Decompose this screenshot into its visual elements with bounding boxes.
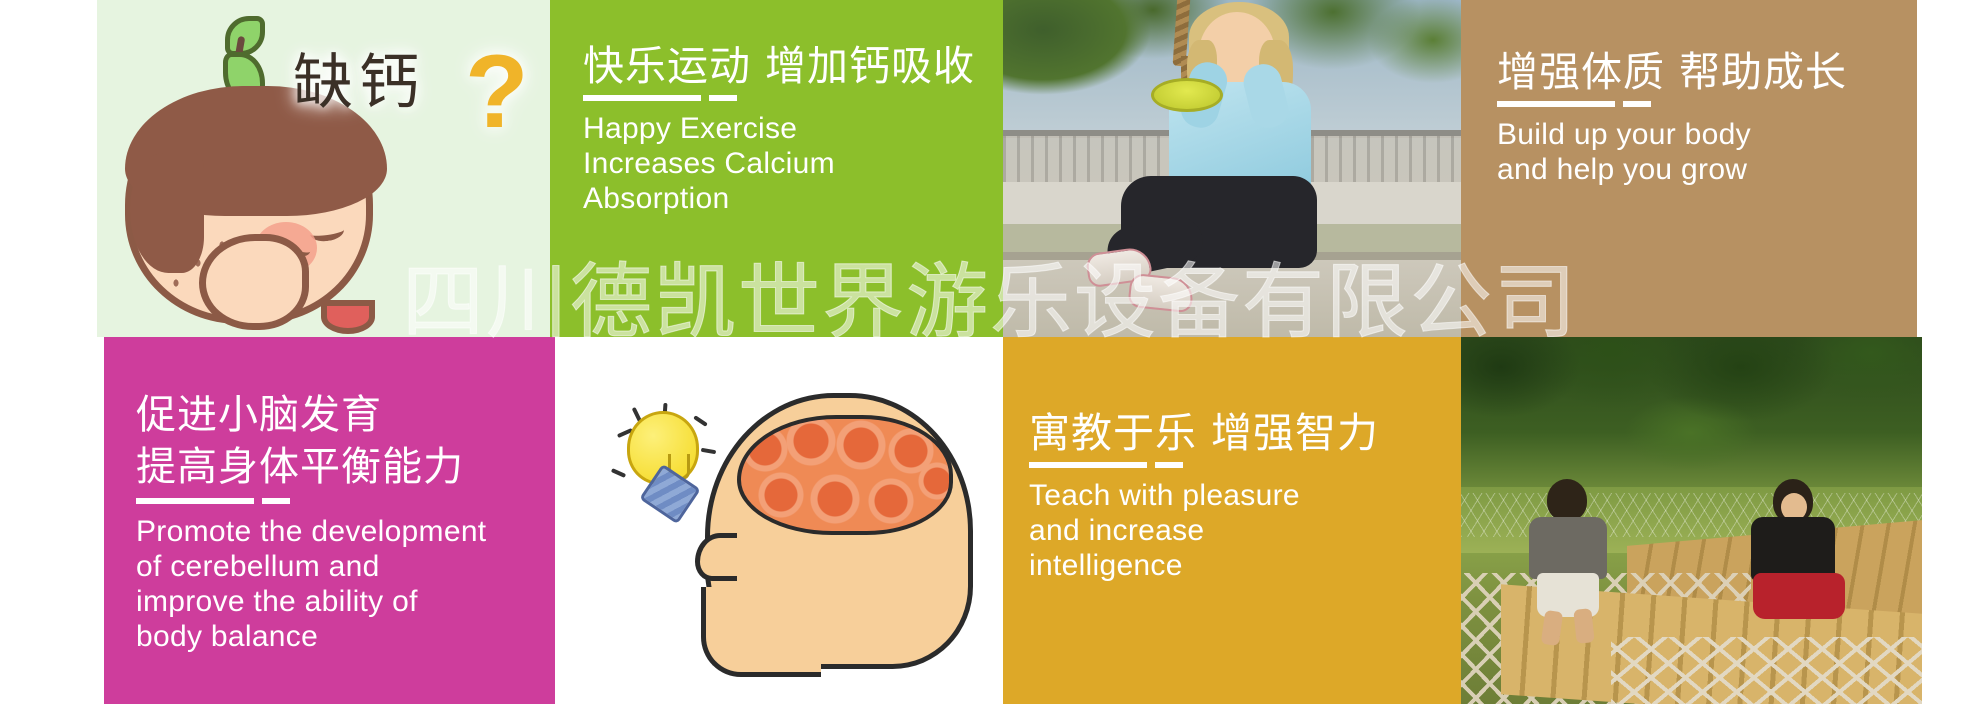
green-english-line-3: Absorption bbox=[583, 181, 975, 216]
nose-icon bbox=[695, 533, 737, 581]
gold-english-line-2: and increase bbox=[1029, 513, 1379, 548]
green-english-text: Happy Exercise Increases Calcium Absorpt… bbox=[583, 111, 975, 216]
green-headline-cn: 快乐运动 增加钙吸收 bbox=[583, 42, 975, 90]
panel-cerebellum: 促进小脑发育 提高身体平衡能力 Promote the development … bbox=[104, 337, 555, 704]
boy-head bbox=[1547, 479, 1587, 521]
rope-net-lower bbox=[1611, 637, 1922, 704]
gold-english-line-1: Teach with pleasure bbox=[1029, 478, 1379, 513]
boy-figure bbox=[1519, 479, 1615, 639]
panel-teach-with-pleasure: 寓教于乐 增强智力 Teach with pleasure and increa… bbox=[1003, 337, 1461, 704]
question-mark-icon: ? bbox=[465, 40, 529, 144]
panel-photo-rope-bridge bbox=[1461, 337, 1922, 704]
magenta-underline-rule bbox=[136, 498, 254, 504]
magenta-english-line-4: body balance bbox=[136, 619, 486, 654]
green-underline-rule bbox=[583, 95, 701, 101]
baby-mouth-icon bbox=[321, 300, 375, 334]
tan-english-line-2: and help you grow bbox=[1497, 152, 1847, 187]
magenta-english-line-1: Promote the development bbox=[136, 514, 486, 549]
bulb-ray-icon bbox=[693, 415, 708, 427]
promo-banner: 缺钙 ? 快乐运动 增加钙吸收 Happy Exercise Increases… bbox=[0, 0, 1980, 704]
tan-english-text: Build up your body and help you grow bbox=[1497, 117, 1847, 187]
panel-photo-swing bbox=[1003, 0, 1461, 337]
boy-leg-right bbox=[1573, 608, 1594, 644]
woman-figure bbox=[1729, 479, 1859, 629]
pavement-lower bbox=[1003, 260, 1461, 337]
green-english-line-1: Happy Exercise bbox=[583, 111, 975, 146]
tan-text-block: 增强体质 帮助成长 Build up your body and help yo… bbox=[1497, 48, 1847, 187]
baby-caption: 缺钙 ? bbox=[293, 48, 523, 156]
gold-headline-cn: 寓教于乐 增强智力 bbox=[1029, 409, 1379, 457]
magenta-english-text: Promote the development of cerebellum an… bbox=[136, 514, 486, 654]
tan-underline-rule bbox=[1497, 101, 1615, 107]
panel-brain-illustration bbox=[555, 337, 1003, 704]
gold-english-line-3: intelligence bbox=[1029, 548, 1379, 583]
magenta-text-block: 促进小脑发育 提高身体平衡能力 Promote the development … bbox=[136, 389, 486, 654]
gold-english-text: Teach with pleasure and increase intelli… bbox=[1029, 478, 1379, 583]
green-text-block: 快乐运动 增加钙吸收 Happy Exercise Increases Calc… bbox=[583, 42, 975, 216]
woman-top bbox=[1751, 517, 1835, 581]
magenta-headline-cn-line-2: 提高身体平衡能力 bbox=[136, 441, 486, 493]
panel-build-body: 增强体质 帮助成长 Build up your body and help yo… bbox=[1461, 0, 1917, 337]
sprout-leaf-icon bbox=[225, 16, 265, 56]
bulb-ray-icon bbox=[701, 448, 716, 455]
green-english-line-2: Increases Calcium bbox=[583, 146, 975, 181]
boy-shirt bbox=[1529, 517, 1607, 579]
swing-disc-icon bbox=[1151, 78, 1223, 112]
magenta-english-line-2: of cerebellum and bbox=[136, 549, 486, 584]
magenta-english-line-3: improve the ability of bbox=[136, 584, 486, 619]
bulb-ray-icon bbox=[611, 468, 626, 478]
panel-baby-calcium: 缺钙 ? bbox=[97, 0, 550, 337]
brain-icon bbox=[737, 415, 953, 535]
chin-icon bbox=[701, 587, 821, 677]
woman-pants bbox=[1753, 573, 1845, 619]
lightbulb-icon bbox=[615, 405, 711, 515]
gold-underline-rule bbox=[1029, 462, 1147, 468]
tan-english-line-1: Build up your body bbox=[1497, 117, 1847, 152]
panel-happy-exercise: 快乐运动 增加钙吸收 Happy Exercise Increases Calc… bbox=[550, 0, 1003, 337]
baby-hand-icon bbox=[199, 234, 309, 330]
magenta-headline-cn-line-1: 促进小脑发育 bbox=[136, 389, 486, 441]
gold-text-block: 寓教于乐 增强智力 Teach with pleasure and increa… bbox=[1029, 409, 1379, 583]
tan-headline-cn: 增强体质 帮助成长 bbox=[1497, 48, 1847, 96]
